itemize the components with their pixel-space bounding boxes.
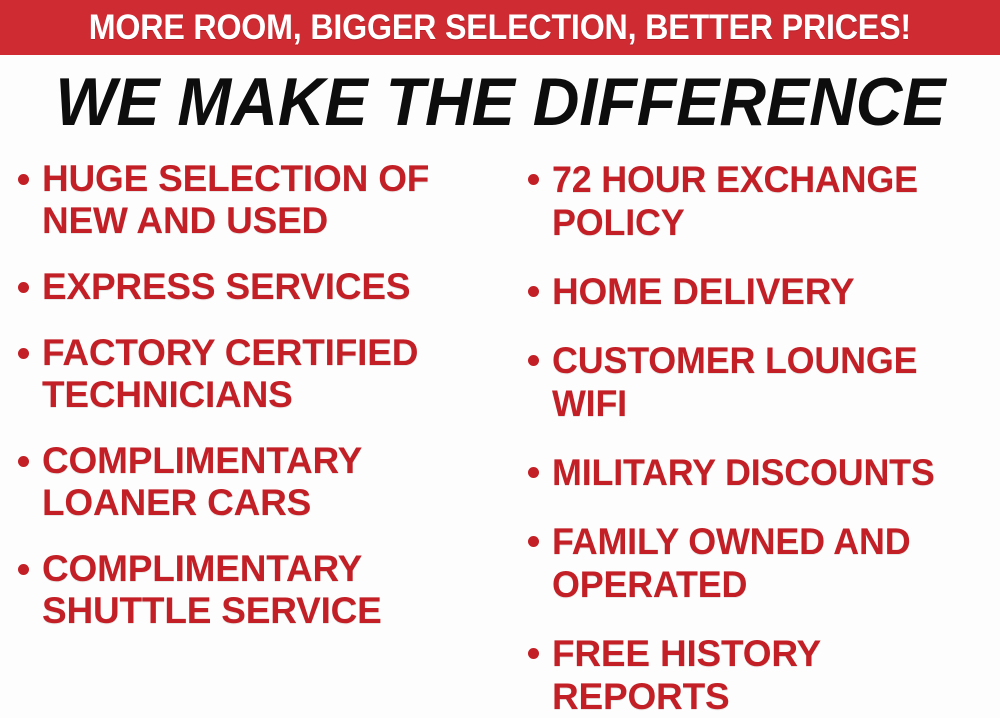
list-item: CUSTOMER LOUNGE WIFI — [528, 339, 1000, 425]
bullet-dot-icon — [18, 174, 29, 185]
headline-block: WE MAKE THE DIFFERENCE — [0, 66, 1000, 138]
bullet-dot-icon — [528, 355, 539, 366]
list-item: HOME DELIVERY — [528, 270, 1000, 313]
bullet-dot-icon — [18, 564, 29, 575]
promo-poster: MORE ROOM, BIGGER SELECTION, BETTER PRIC… — [0, 0, 1000, 694]
bullet-dot-icon — [18, 282, 29, 293]
list-item: MILITARY DISCOUNTS — [528, 451, 1000, 494]
benefit-label-complimentary-shuttle-service: COMPLIMENTARY SHUTTLE SERVICE — [42, 548, 506, 632]
benefit-label-free-history-reports: FREE HISTORY REPORTS — [552, 632, 1000, 718]
list-item: FACTORY CERTIFIED TECHNICIANS — [18, 332, 506, 416]
list-item: EXPRESS SERVICES — [18, 266, 506, 308]
benefit-label-express-services: EXPRESS SERVICES — [42, 266, 506, 308]
bullet-dot-icon — [528, 286, 539, 297]
benefit-label-customer-lounge-wifi: CUSTOMER LOUNGE WIFI — [552, 339, 987, 425]
benefit-label-family-owned-and-operated: FAMILY OWNED AND OPERATED — [552, 520, 987, 606]
benefit-label-military-discounts: MILITARY DISCOUNTS — [552, 451, 987, 494]
list-item: FAMILY OWNED AND OPERATED — [528, 520, 1000, 606]
list-item: COMPLIMENTARY LOANER CARS — [18, 440, 506, 524]
list-item: FREE HISTORY REPORTS — [528, 632, 1000, 718]
list-item: COMPLIMENTARY SHUTTLE SERVICE — [18, 548, 506, 632]
bullet-dot-icon — [528, 648, 539, 659]
benefit-label-factory-certified-technicians: FACTORY CERTIFIED TECHNICIANS — [42, 332, 506, 416]
bullet-dot-icon — [18, 348, 29, 359]
benefits-columns: HUGE SELECTION OF NEW AND USED EXPRESS S… — [0, 158, 1000, 694]
benefit-label-home-delivery: HOME DELIVERY — [552, 270, 1000, 313]
bullet-dot-icon — [528, 467, 539, 478]
list-item: HUGE SELECTION OF NEW AND USED — [18, 158, 506, 242]
benefits-column-right: 72 HOUR EXCHANGE POLICY HOME DELIVERY CU… — [508, 158, 1000, 694]
bullet-dot-icon — [18, 456, 29, 467]
benefit-label-huge-selection: HUGE SELECTION OF NEW AND USED — [42, 158, 506, 242]
bullet-dot-icon — [528, 536, 539, 547]
top-banner: MORE ROOM, BIGGER SELECTION, BETTER PRIC… — [0, 0, 1000, 55]
benefits-column-left: HUGE SELECTION OF NEW AND USED EXPRESS S… — [0, 158, 508, 694]
bullet-dot-icon — [528, 174, 539, 185]
page-title: WE MAKE THE DIFFERENCE — [55, 66, 945, 138]
banner-headline: MORE ROOM, BIGGER SELECTION, BETTER PRIC… — [89, 10, 911, 45]
benefit-label-complimentary-loaner-cars: COMPLIMENTARY LOANER CARS — [42, 440, 506, 524]
list-item: 72 HOUR EXCHANGE POLICY — [528, 158, 1000, 244]
benefit-label-72-hour-exchange-policy: 72 HOUR EXCHANGE POLICY — [552, 158, 987, 244]
